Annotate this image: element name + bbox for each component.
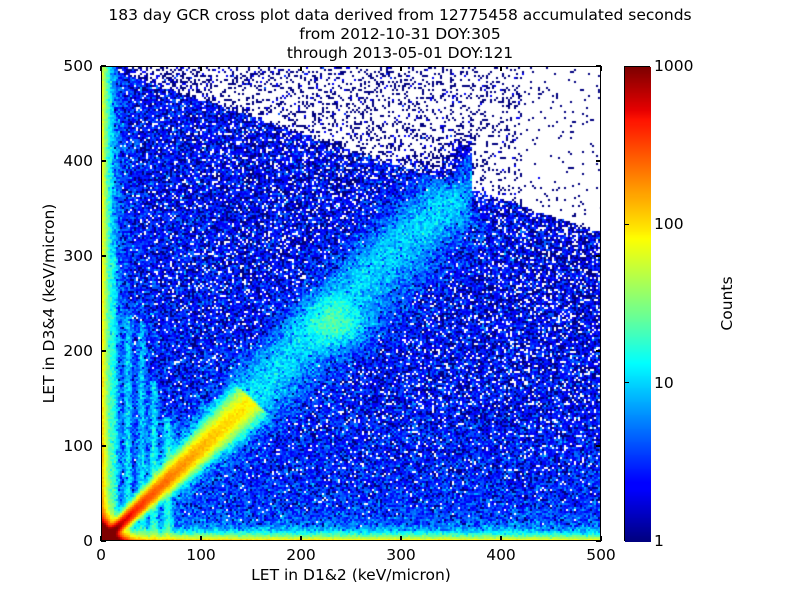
x-axis-label: LET in D1&2 (keV/micron) [101,566,601,584]
scatter-density-canvas [102,67,601,541]
figure-root: 183 day GCR cross plot data derived from… [0,0,800,600]
x-tick-label: 500 [586,546,616,564]
y-tick-mark [101,445,106,446]
colorbar-tick-label: 1000 [654,57,693,75]
colorbar-tick-label: 100 [654,215,684,233]
x-tick-label: 0 [96,546,106,564]
y-tick-mark [101,255,106,256]
x-tick-mark [100,66,101,71]
y-tick-mark [596,160,601,161]
x-tick-mark [300,536,301,541]
x-tick-mark [200,536,201,541]
y-tick-mark [596,445,601,446]
y-tick-mark [101,540,106,541]
x-tick-mark [500,66,501,71]
y-tick-mark [596,65,601,66]
y-tick-mark [101,160,106,161]
x-tick-mark [200,66,201,71]
x-tick-label: 200 [286,546,316,564]
y-tick-mark [596,255,601,256]
colorbar-label: Counts [718,66,736,541]
title-line-2: from 2012-10-31 DOY:305 [0,25,800,44]
x-tick-label: 400 [486,546,516,564]
x-tick-mark [300,66,301,71]
y-axis-label: LET in D3&4 (keV/micron) [40,66,58,541]
x-tick-mark [500,536,501,541]
x-tick-mark [400,66,401,71]
colorbar-tick-label: 10 [654,374,674,392]
chart-title: 183 day GCR cross plot data derived from… [0,6,800,63]
y-tick-mark [596,540,601,541]
x-tick-mark [400,536,401,541]
y-tick-mark [101,350,106,351]
x-tick-label: 300 [386,546,416,564]
colorbar-tick-label: 1 [654,532,664,550]
colorbar-gradient [625,67,651,542]
colorbar-tick-mark [624,382,629,383]
x-tick-label: 100 [186,546,216,564]
x-tick-mark [600,66,601,71]
y-tick-mark [101,65,106,66]
colorbar [624,66,650,541]
plot-area [101,66,601,541]
y-tick-mark [596,350,601,351]
title-line-1: 183 day GCR cross plot data derived from… [0,6,800,25]
colorbar-tick-mark [624,224,629,225]
